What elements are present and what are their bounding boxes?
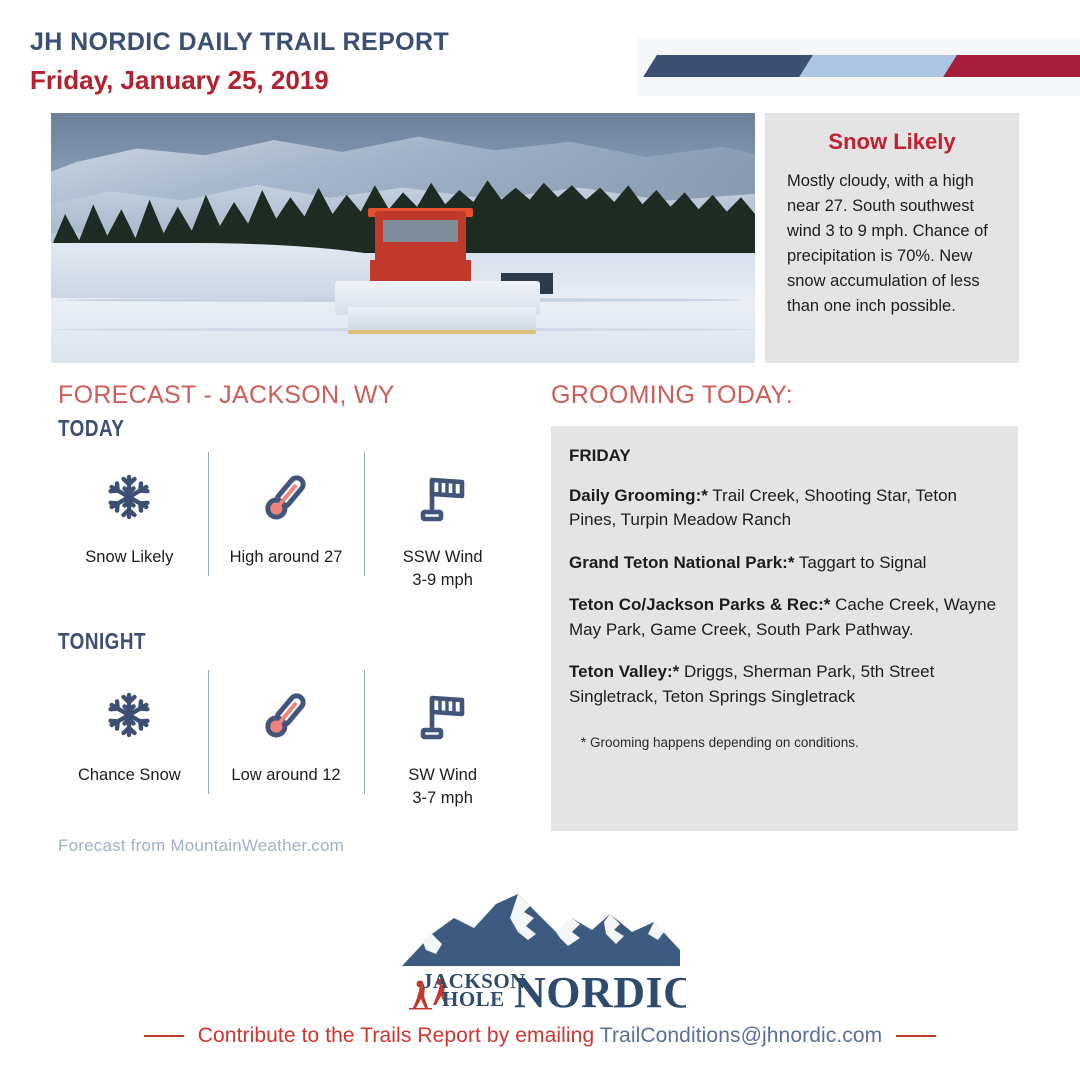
- grooming-item-label: Grand Teton National Park:*: [569, 553, 794, 572]
- footer-text: Contribute to the Trails Report by email…: [198, 1024, 883, 1048]
- forecast-cell-tonight-condition: Chance Snow: [51, 670, 208, 810]
- forecast-label-today-temp: High around 27: [208, 546, 365, 569]
- report-date: Friday, January 25, 2019: [30, 65, 449, 96]
- page-footer: Contribute to the Trails Report by email…: [0, 1024, 1080, 1048]
- grooming-item-value: Taggart to Signal: [794, 553, 926, 572]
- groomer-body: [370, 260, 470, 283]
- logo-wordmark: NORDIC: [514, 968, 686, 1010]
- snowflake-icon: [51, 458, 208, 536]
- grooming-box: FRIDAY Daily Grooming:* Trail Creek, Sho…: [551, 426, 1018, 831]
- thermometer-icon: [208, 458, 365, 536]
- footer-rule-left: [144, 1035, 184, 1037]
- footer-message: Contribute to the Trails Report by email…: [198, 1024, 600, 1047]
- grooming-item: Teton Valley:* Driggs, Sherman Park, 5th…: [569, 660, 1000, 709]
- grooming-item: Teton Co/Jackson Parks & Rec:* Cache Cre…: [569, 593, 1000, 642]
- grooming-item-label: Teton Valley:*: [569, 662, 679, 681]
- groomer-windshield: [381, 218, 460, 244]
- photo-snow-groomer: [340, 208, 558, 338]
- conditions-headline: Snow Likely: [765, 129, 1019, 155]
- grooming-item: Grand Teton National Park:* Taggart to S…: [569, 551, 1000, 575]
- grooming-day: FRIDAY: [569, 446, 1000, 466]
- forecast-row-today: Snow Likely High around 27: [51, 452, 521, 592]
- forecast-cell-today-wind: SSW Wind 3-9 mph: [364, 452, 521, 592]
- stripe-segment-light-blue: [799, 55, 961, 77]
- trail-photo: [51, 113, 755, 363]
- forecast-label-tonight-wind: SW Wind 3-7 mph: [364, 764, 521, 810]
- groomer-tiller: [348, 307, 536, 334]
- windsock-icon: [364, 458, 521, 536]
- forecast-period-tonight: TONIGHT: [58, 628, 146, 655]
- windsock-icon: [364, 676, 521, 754]
- grooming-item-label: Teton Co/Jackson Parks & Rec:*: [569, 595, 830, 614]
- footer-email-link[interactable]: TrailConditions@jhnordic.com: [600, 1024, 882, 1047]
- forecast-label-tonight-condition: Chance Snow: [51, 764, 208, 787]
- grooming-note: * Grooming happens depending on conditio…: [569, 735, 1000, 750]
- page-header: JH NORDIC DAILY TRAIL REPORT Friday, Jan…: [0, 0, 1080, 110]
- stripe-segment-red: [943, 55, 1080, 77]
- forecast-cell-tonight-wind: SW Wind 3-7 mph: [364, 670, 521, 810]
- stripe-segment-navy: [643, 55, 817, 77]
- jackson-hole-nordic-logo: JACKSON HOLE NORDIC: [396, 888, 686, 1010]
- forecast-source: Forecast from MountainWeather.com: [58, 836, 344, 856]
- logo-mountain-icon: [402, 894, 680, 966]
- footer-rule-right: [896, 1035, 936, 1037]
- thermometer-icon: [208, 676, 365, 754]
- forecast-heading: FORECAST - JACKSON, WY: [58, 381, 395, 410]
- conditions-panel: Snow Likely Mostly cloudy, with a high n…: [765, 113, 1019, 363]
- forecast-period-today: TODAY: [58, 415, 124, 442]
- conditions-detail: Mostly cloudy, with a high near 27. Sout…: [787, 169, 997, 319]
- page-title: JH NORDIC DAILY TRAIL REPORT: [30, 28, 449, 57]
- forecast-label-today-condition: Snow Likely: [51, 546, 208, 569]
- title-block: JH NORDIC DAILY TRAIL REPORT Friday, Jan…: [30, 28, 449, 96]
- forecast-cell-tonight-temp: Low around 12: [208, 670, 365, 810]
- brand-stripe: [638, 55, 1080, 77]
- snowflake-icon: [51, 676, 208, 754]
- forecast-label-today-wind: SSW Wind 3-9 mph: [364, 546, 521, 592]
- logo-line2: HOLE: [442, 987, 505, 1010]
- forecast-row-tonight: Chance Snow Low around 12: [51, 670, 521, 810]
- grooming-item-label: Daily Grooming:*: [569, 486, 708, 505]
- grooming-heading: GROOMING TODAY:: [551, 381, 793, 410]
- forecast-label-tonight-temp: Low around 12: [208, 764, 365, 787]
- forecast-cell-today-condition: Snow Likely: [51, 452, 208, 592]
- brand-stripe-banner: [638, 38, 1080, 96]
- forecast-cell-today-temp: High around 27: [208, 452, 365, 592]
- grooming-item: Daily Grooming:* Trail Creek, Shooting S…: [569, 484, 1000, 533]
